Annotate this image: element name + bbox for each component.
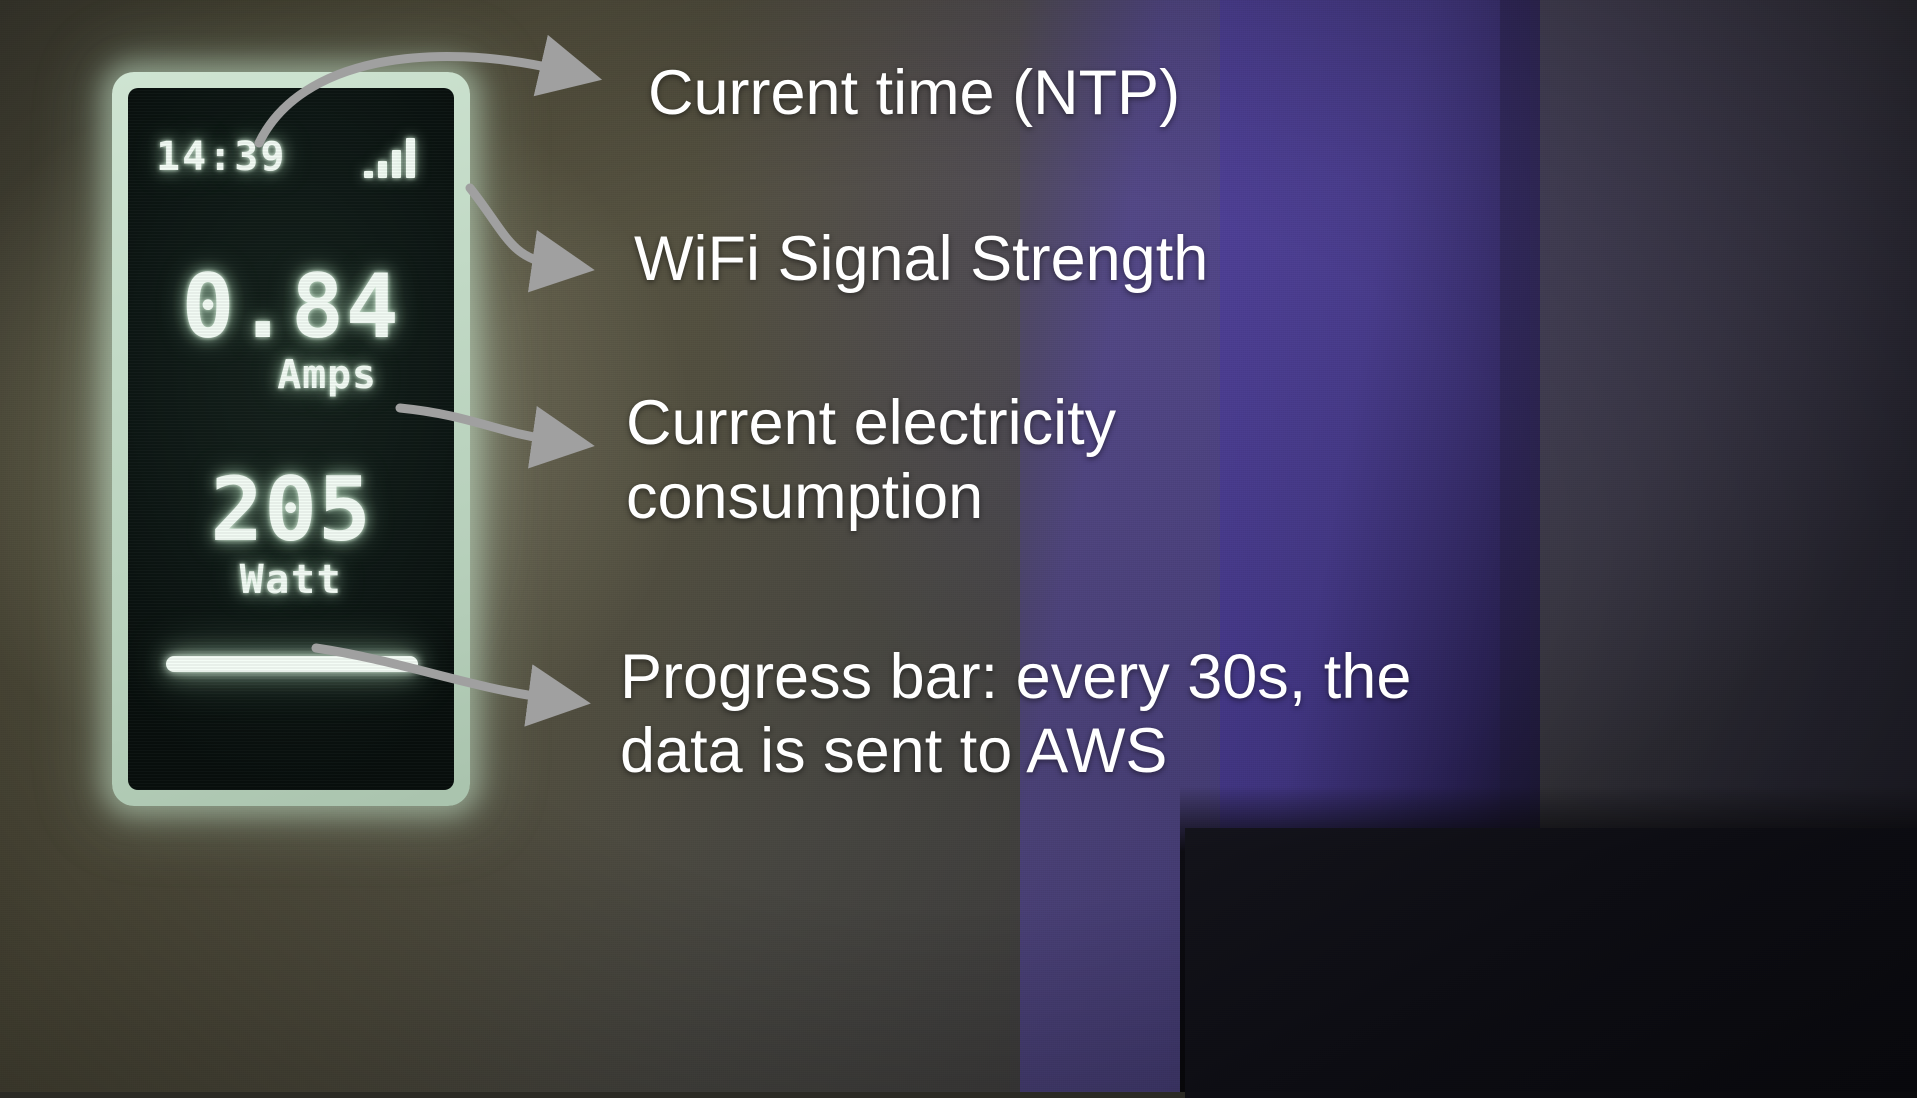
wifi-signal-bars-icon bbox=[364, 134, 426, 178]
annotation-label-power: Current electricity consumption bbox=[626, 386, 1116, 534]
power-reading-block: 205 Watt bbox=[128, 466, 454, 602]
wifi-bar-2 bbox=[378, 161, 387, 178]
background-dark-corner bbox=[1185, 828, 1917, 1098]
current-reading-block: 0.84 Amps bbox=[128, 263, 454, 397]
annotation-label-wifi: WiFi Signal Strength bbox=[634, 222, 1208, 296]
device-screen: 14:39 0.84 Amps 205 Watt bbox=[128, 88, 454, 790]
current-reading-value: 0.84 bbox=[182, 263, 401, 351]
upload-progress-bar bbox=[166, 656, 418, 672]
wifi-bar-3 bbox=[392, 150, 401, 178]
annotation-label-time: Current time (NTP) bbox=[648, 56, 1180, 130]
power-reading-unit: Watt bbox=[128, 558, 454, 602]
energy-monitor-device: 14:39 0.84 Amps 205 Watt bbox=[112, 72, 470, 806]
current-reading-unit-wrap: Amps bbox=[128, 353, 454, 397]
power-reading-value: 205 bbox=[210, 466, 372, 554]
wifi-bar-4 bbox=[406, 138, 415, 178]
clock-readout: 14:39 bbox=[156, 134, 286, 180]
screen-status-bar: 14:39 bbox=[152, 134, 430, 180]
wifi-bar-1 bbox=[364, 171, 373, 178]
annotation-label-progress: Progress bar: every 30s, the data is sen… bbox=[620, 640, 1411, 788]
current-reading-unit: Amps bbox=[200, 353, 454, 397]
upload-progress-fill bbox=[166, 656, 418, 672]
